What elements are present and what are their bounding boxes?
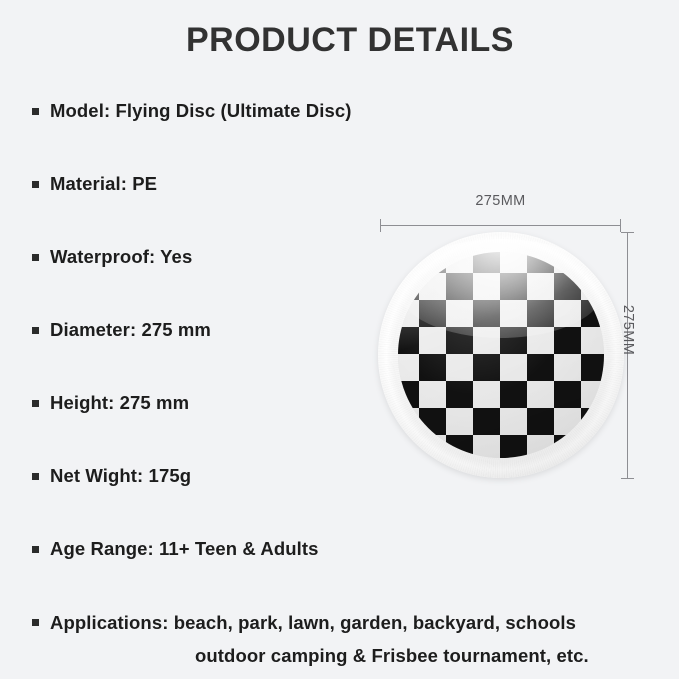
bullet-square-icon: [32, 400, 39, 407]
dimension-width-tick-right: [620, 219, 621, 232]
spec-label-material: Material: PE: [50, 173, 157, 194]
spec-label-diameter: Diameter: 275 mm: [50, 319, 211, 340]
disc-checkerboard-face: [398, 252, 604, 458]
spec-item-model: Model: Flying Disc (Ultimate Disc): [30, 96, 670, 127]
checkerboard-pattern: [398, 252, 604, 458]
bullet-square-icon: [32, 108, 39, 115]
spec-label-applications-line2: outdoor camping & Frisbee tournament, et…: [50, 640, 670, 671]
product-details-page: PRODUCT DETAILS Model: Flying Disc (Ulti…: [0, 0, 679, 679]
dimension-height-tick-bottom: [621, 478, 634, 479]
spec-item-applications: Applications: beach, park, lawn, garden,…: [30, 607, 670, 671]
spec-label-height: Height: 275 mm: [50, 392, 189, 413]
spec-label-age-range: Age Range: 11+ Teen & Adults: [50, 538, 319, 559]
spec-label-net-weight: Net Wight: 175g: [50, 465, 191, 486]
dimension-height-tick-top: [621, 232, 634, 233]
dimension-width-line: [380, 225, 620, 226]
bullet-square-icon: [32, 546, 39, 553]
bullet-square-icon: [32, 181, 39, 188]
bullet-square-icon: [32, 327, 39, 334]
spec-item-age-range: Age Range: 11+ Teen & Adults: [30, 534, 670, 565]
flying-disc-image: [378, 232, 624, 478]
product-image-block: 275MM 275MM: [370, 190, 679, 490]
spec-value-model-variant: (Ultimate Disc): [215, 100, 351, 121]
bullet-square-icon: [32, 473, 39, 480]
spec-label-waterproof: Waterproof: Yes: [50, 246, 192, 267]
spec-label-applications-line1: Applications: beach, park, lawn, garden,…: [50, 612, 576, 633]
dimension-width-tick-left: [380, 219, 381, 232]
page-title: PRODUCT DETAILS: [0, 21, 679, 60]
spec-label-model: Model: Flying Disc: [50, 100, 215, 121]
dimension-width-label: 275MM: [380, 193, 621, 209]
bullet-square-icon: [32, 619, 39, 626]
bullet-square-icon: [32, 254, 39, 261]
